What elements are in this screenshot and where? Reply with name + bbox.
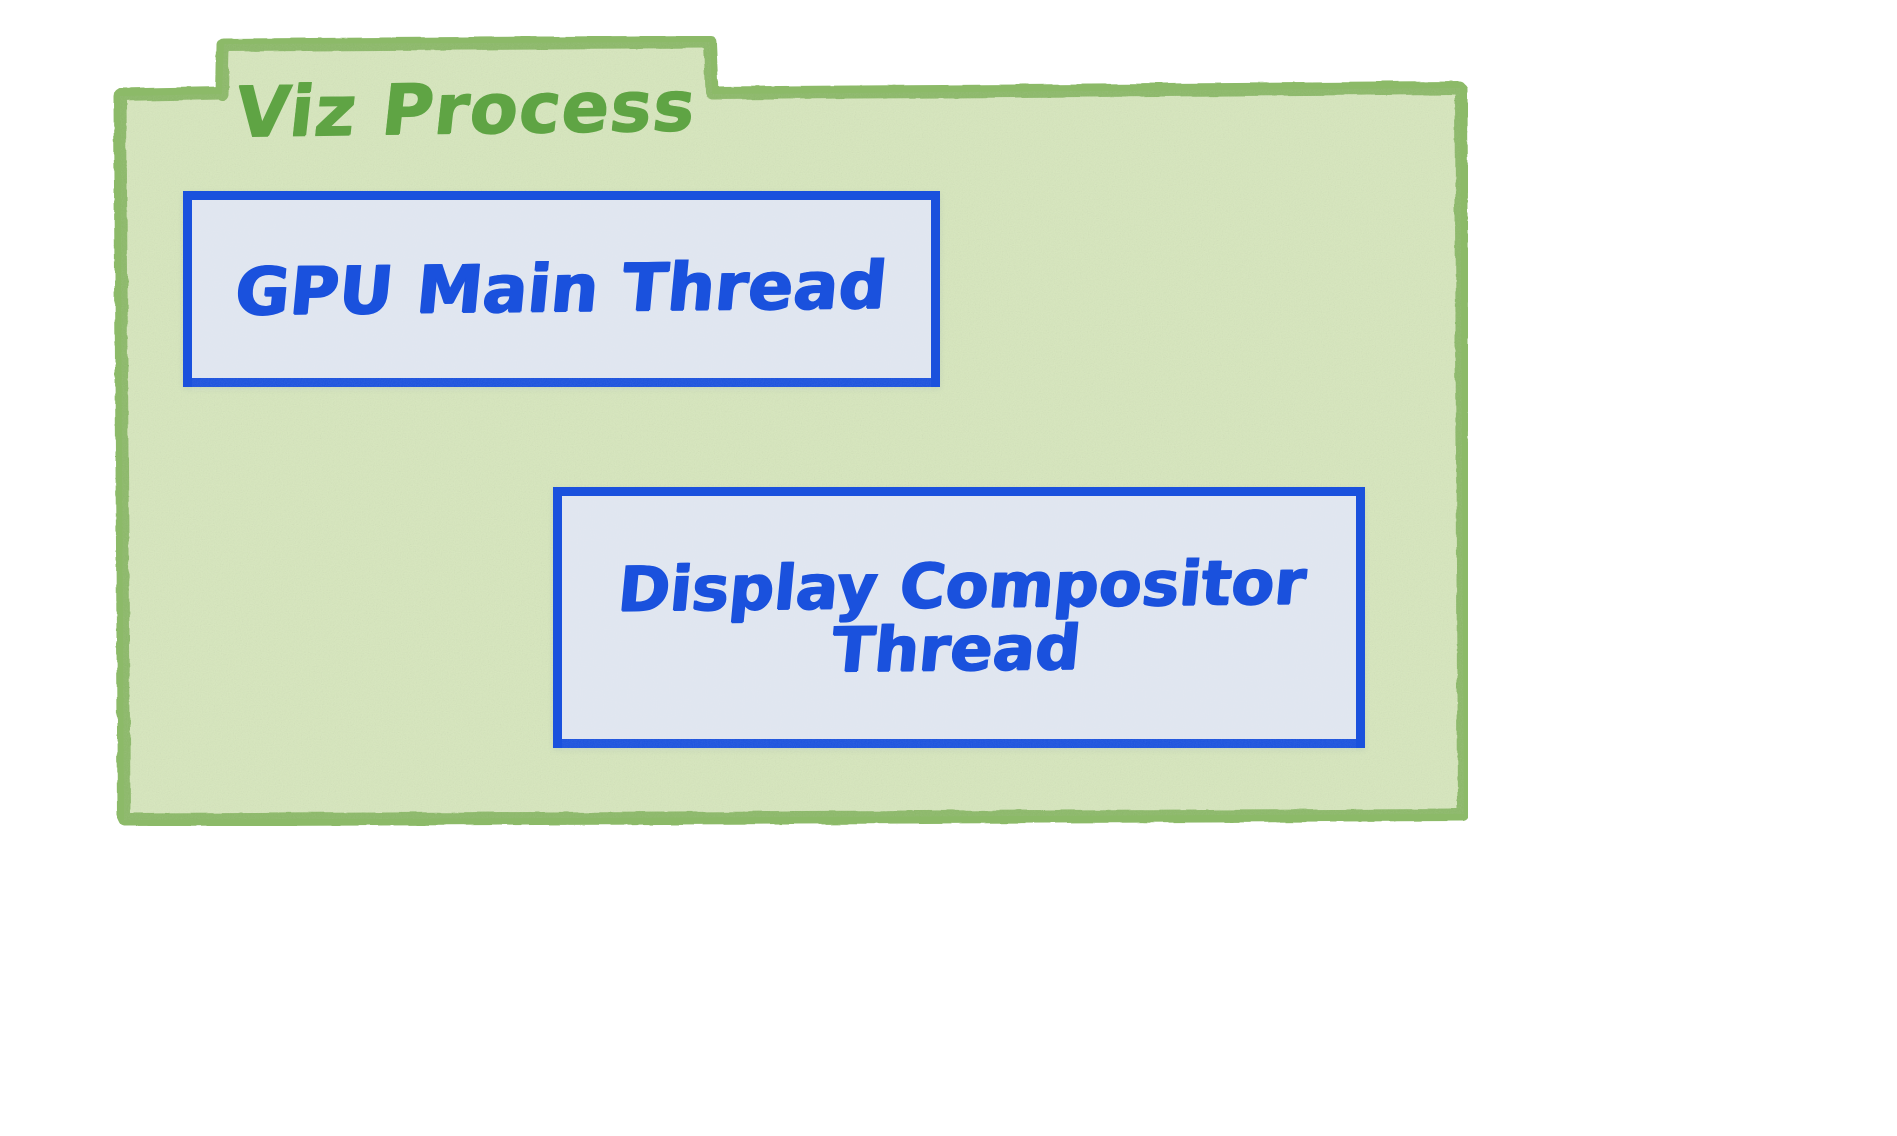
thread-box-display-compositor-thread[interactable]: Display Compositor Thread: [553, 487, 1365, 748]
thread-label-display-compositor-thread: Display Compositor Thread: [609, 551, 1309, 685]
thread-box-gpu-main-thread[interactable]: GPU Main Thread: [183, 191, 940, 387]
thread-label-gpu-main-thread: GPU Main Thread: [233, 252, 891, 326]
diagram-canvas: Viz Process GPU Main Thread: [0, 0, 1897, 1136]
process-title: Viz Process: [232, 71, 700, 147]
